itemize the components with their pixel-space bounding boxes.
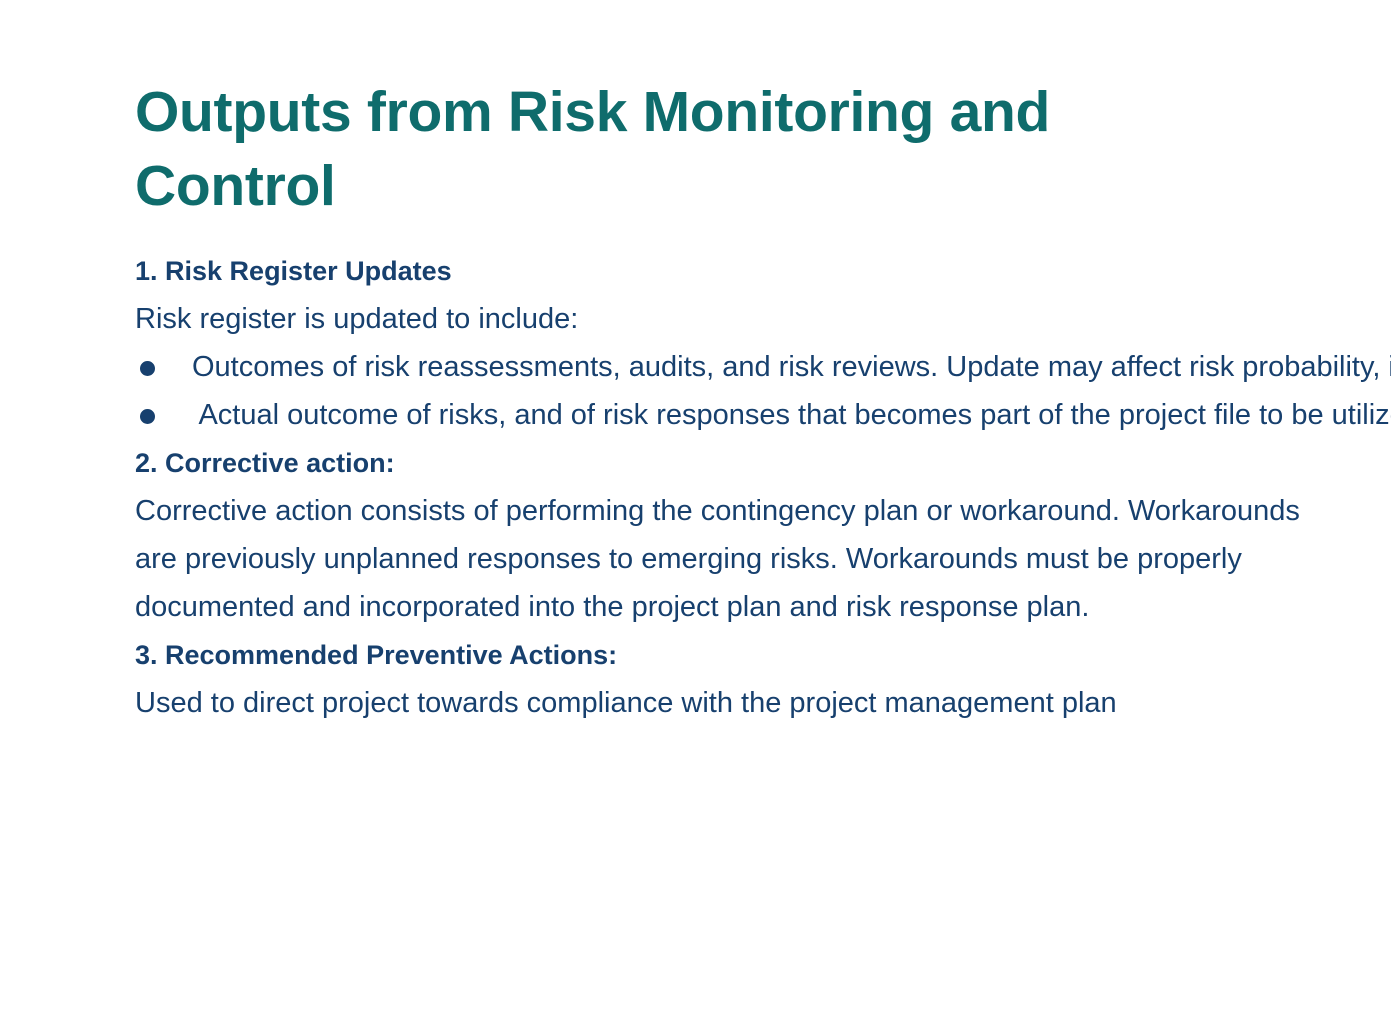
risk-register-bullet-list: Outcomes of risk reassessments, audits, … xyxy=(135,343,1315,439)
list-item-text: Outcomes of risk reassessments, audits, … xyxy=(192,351,1391,383)
section-body-2: Corrective action consists of performing… xyxy=(135,487,1310,631)
list-item: Outcomes of risk reassessments, audits, … xyxy=(135,343,1367,391)
list-item-text: Actual outcome of risks, and of risk res… xyxy=(192,399,1391,431)
bullet-dot-icon xyxy=(140,409,155,424)
bullet-dot-icon xyxy=(140,361,155,376)
section-body-3: Used to direct project towards complianc… xyxy=(135,679,1235,727)
slide: Outputs from Risk Monitoring and Control… xyxy=(0,0,1391,1017)
slide-body: 1. Risk Register Updates Risk register i… xyxy=(135,247,1315,727)
page-title: Outputs from Risk Monitoring and Control xyxy=(135,75,1255,223)
list-item: Actual outcome of risks, and of risk res… xyxy=(135,391,1367,439)
section-heading-1: 1. Risk Register Updates xyxy=(135,247,1315,295)
section-heading-2: 2. Corrective action: xyxy=(135,439,1315,487)
section-heading-3: 3. Recommended Preventive Actions: xyxy=(135,631,1315,679)
section-intro-1: Risk register is updated to include: xyxy=(135,295,1235,343)
